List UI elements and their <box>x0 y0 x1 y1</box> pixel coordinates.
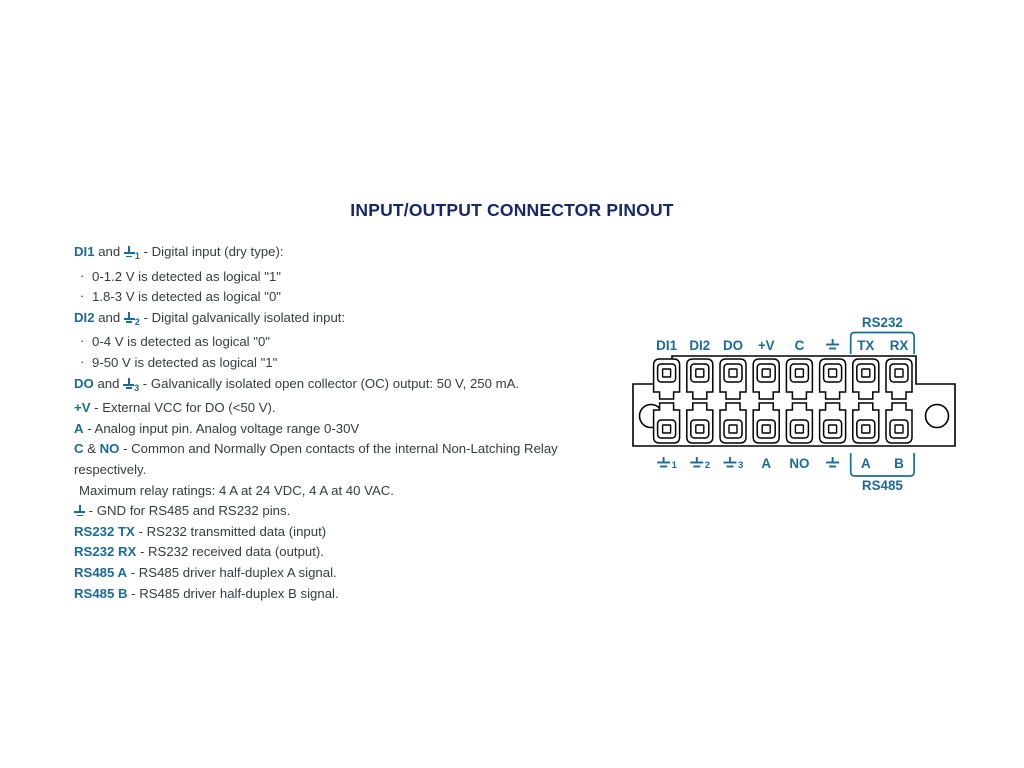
legend-line-rs485b: RS485 B - RS485 driver half-duplex B sig… <box>74 584 614 605</box>
legend-text: and <box>95 310 124 325</box>
legend-line-rs485a: RS485 A - RS485 driver half-duplex A sig… <box>74 563 614 584</box>
pin-key-label: RS232 RX <box>74 544 136 559</box>
legend-text: 0-4 V is detected as logical "0" <box>92 334 270 349</box>
pin-top-label-rx: RX <box>890 338 909 353</box>
legend-line-gnd: - GND for RS485 and RS232 pins. <box>74 501 614 522</box>
pin-key-label: NO <box>100 441 120 456</box>
legend-text: - External VCC for DO (<50 V). <box>91 400 276 415</box>
legend-text: & <box>84 441 100 456</box>
pin-bottom-label-a-3: A <box>761 456 771 471</box>
ground-symbol-icon <box>826 457 839 467</box>
pin-key-label: +V <box>74 400 91 415</box>
legend-line-analog: A - Analog input pin. Analog voltage ran… <box>74 419 614 440</box>
legend-text: Maximum relay ratings: 4 A at 24 VDC, 4 … <box>79 483 394 498</box>
legend-line-rs232tx: RS232 TX - RS232 transmitted data (input… <box>74 522 614 543</box>
connector-bottom-labels: 123ANOAB <box>657 456 904 471</box>
pin-top-label-do: DO <box>723 338 743 353</box>
pin-key-label: A <box>74 421 84 436</box>
pin-bottom-label-a-6: A <box>861 456 871 471</box>
ground-symbol-icon: 2 <box>690 457 710 471</box>
connector-body <box>633 356 955 446</box>
connector-diagram: DI1DI2DO+VCTXRX 123ANOAB RS232RS485 <box>624 310 964 505</box>
bullet-icon: · <box>80 286 84 307</box>
pin-key-label: RS485 B <box>74 586 128 601</box>
pin-top-label-di2: DI2 <box>689 338 710 353</box>
legend-line-di2-b1: ·0-4 V is detected as logical "0" <box>74 332 614 353</box>
legend-text: - Digital input (dry type): <box>140 244 284 259</box>
legend-text: - Common and Normally Open contacts of t… <box>74 441 558 477</box>
legend-text: and <box>94 376 123 391</box>
legend-line-di1-b1: ·0-1.2 V is detected as logical "1" <box>74 267 614 288</box>
pin-top-label-c: C <box>795 338 805 353</box>
pin-key-label: RS485 A <box>74 565 127 580</box>
bullet-icon: · <box>80 352 84 373</box>
legend-text: 0-1.2 V is detected as logical "1" <box>92 269 281 284</box>
legend-text: - Analog input pin. Analog voltage range… <box>84 421 360 436</box>
ground-symbol-icon <box>826 339 839 349</box>
legend-text: 9-50 V is detected as logical "1" <box>92 355 277 370</box>
legend-text: - GND for RS485 and RS232 pins. <box>85 503 290 518</box>
legend-text: 1.8-3 V is detected as logical "0" <box>92 289 281 304</box>
legend-line-di2: DI2 and 2 - Digital galvanically isolate… <box>74 308 614 333</box>
legend-text: - Digital galvanically isolated input: <box>140 310 345 325</box>
ground-symbol-icon <box>124 312 135 324</box>
ground-symbol-icon: 1 <box>657 457 678 471</box>
pin-key-label: RS232 TX <box>74 524 135 539</box>
pin-key-label: DO <box>74 376 94 391</box>
legend-text: - RS232 received data (output). <box>136 544 324 559</box>
legend-line-di1: DI1 and 1 - Digital input (dry type): <box>74 242 614 267</box>
page-title: INPUT/OUTPUT CONNECTOR PINOUT <box>0 200 1024 221</box>
ground-symbol-icon: 3 <box>724 457 744 471</box>
pin-top-label-v: +V <box>758 338 775 353</box>
connector-top-labels: DI1DI2DO+VCTXRX <box>656 338 908 353</box>
pin-key-label: DI1 <box>74 244 95 259</box>
legend-text: - RS232 transmitted data (input) <box>135 524 326 539</box>
rs485-bus-label: RS485 <box>862 478 903 493</box>
legend-text: - RS485 driver half-duplex A signal. <box>127 565 337 580</box>
ground-subscript: 2 <box>705 460 710 471</box>
legend-line-do: DO and 3 - Galvanically isolated open co… <box>74 374 614 399</box>
ground-subscript: 1 <box>672 460 678 471</box>
legend-text: - RS485 driver half-duplex B signal. <box>128 586 339 601</box>
pin-bottom-label-b-7: B <box>894 456 904 471</box>
pin-top-label-di1: DI1 <box>656 338 677 353</box>
pinout-legend: DI1 and 1 - Digital input (dry type):·0-… <box>74 242 614 604</box>
pin-key-label: DI2 <box>74 310 95 325</box>
ground-symbol-icon <box>123 378 134 390</box>
legend-text: - Galvanically isolated open collector (… <box>139 376 519 391</box>
legend-line-rs232rx: RS232 RX - RS232 received data (output). <box>74 542 614 563</box>
ground-symbol-icon <box>74 505 85 517</box>
pin-key-label: C <box>74 441 84 456</box>
bullet-icon: · <box>80 331 84 352</box>
legend-line-di1-b2: ·1.8-3 V is detected as logical "0" <box>74 287 614 308</box>
legend-line-relay-max: Maximum relay ratings: 4 A at 24 VDC, 4 … <box>74 481 614 502</box>
legend-line-relay: C & NO - Common and Normally Open contac… <box>74 439 614 480</box>
mounting-hole <box>926 405 949 428</box>
bullet-icon: · <box>80 266 84 287</box>
ground-subscript: 3 <box>738 460 743 471</box>
ground-symbol-icon <box>124 246 135 258</box>
legend-text: and <box>95 244 124 259</box>
rs232-bus-label: RS232 <box>862 315 903 330</box>
pin-top-label-tx: TX <box>857 338 874 353</box>
legend-line-plusv: +V - External VCC for DO (<50 V). <box>74 398 614 419</box>
legend-line-di2-b2: ·9-50 V is detected as logical "1" <box>74 353 614 374</box>
pin-bottom-label-no-4: NO <box>789 456 809 471</box>
